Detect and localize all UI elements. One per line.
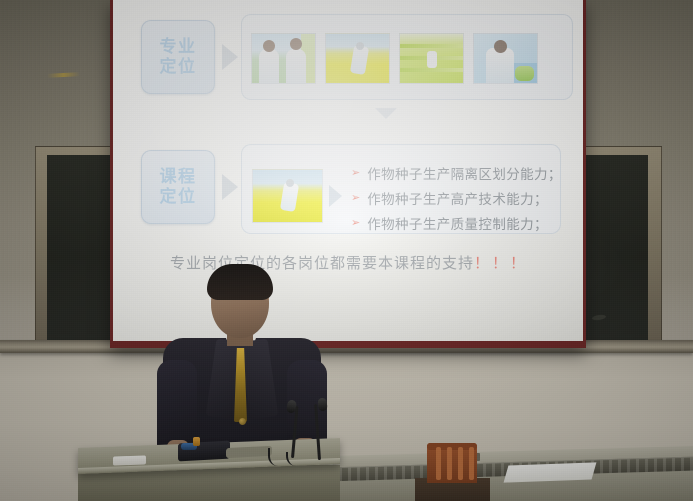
presenter bbox=[155, 268, 340, 453]
lectern-paper bbox=[113, 455, 146, 465]
chair-slat bbox=[458, 447, 463, 480]
paper-sheet bbox=[504, 462, 597, 482]
cable bbox=[286, 452, 306, 466]
chair-slat bbox=[447, 447, 452, 480]
chair-slat bbox=[469, 447, 474, 480]
classroom-photo-scene: 专业 定位 农艺工 繁育员 作物技术员 bbox=[0, 0, 693, 501]
microphone-head-right bbox=[317, 398, 327, 412]
console-orange-indicator bbox=[193, 437, 200, 446]
chair-slat bbox=[436, 447, 441, 480]
hair bbox=[207, 264, 273, 300]
jacket-button bbox=[239, 418, 246, 425]
